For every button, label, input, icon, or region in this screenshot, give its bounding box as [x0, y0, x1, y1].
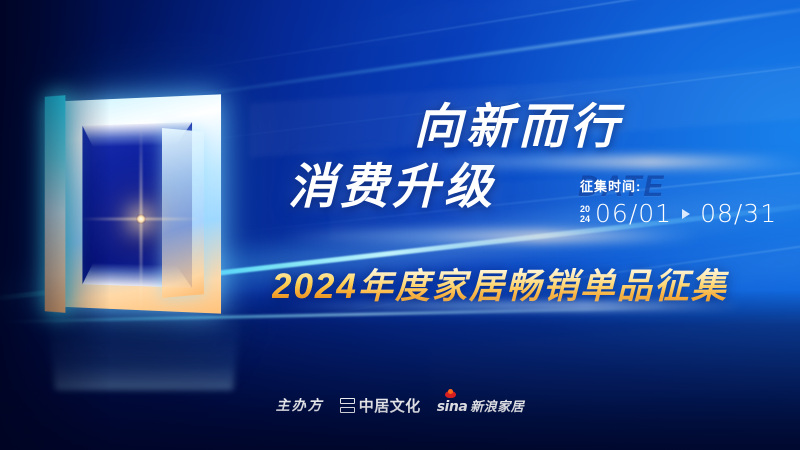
date-label: 征集时间:	[580, 176, 790, 195]
date-range-row: 20 24 06/01 08/31	[580, 199, 790, 228]
footer-sponsors: 主办方 中居文化 sina 新浪家居	[0, 394, 800, 416]
subtitle-underglow	[282, 302, 742, 310]
star-core	[136, 214, 146, 224]
sponsor-zhongju-label: 中居文化	[359, 395, 421, 416]
date-year-bottom: 24	[580, 215, 590, 224]
mark-bottom-bar	[340, 407, 355, 413]
ray-wide-top	[257, 0, 800, 68]
sina-wordmark-text: sina	[437, 399, 468, 415]
door-jamb	[45, 95, 66, 313]
zhongju-square-mark-icon	[340, 398, 355, 413]
promo-banner: 向新而行 消费升级 DATE 征集时间: 20 24 06/01 08/31 2…	[0, 0, 800, 450]
door-leaf	[162, 128, 204, 298]
mark-top-bar	[340, 398, 355, 404]
organizer-label: 主办方	[276, 395, 324, 415]
date-year-stacked: 20 24	[580, 203, 590, 224]
sina-wordmark: sina	[437, 394, 468, 416]
subtitle-block: 2024年度家居畅销单品征集	[272, 258, 772, 309]
glowing-door-portal	[44, 92, 244, 324]
subtitle-text: 年度家居畅销单品征集	[358, 267, 728, 306]
headline-block: 向新而行 消费升级 DATE 征集时间: 20 24 06/01 08/31	[280, 104, 780, 212]
sina-eye-inner	[448, 389, 453, 394]
subtitle-year: 2024	[272, 267, 358, 306]
date-end: 08/31	[700, 199, 777, 228]
headline-line-1: 向新而行	[414, 104, 780, 152]
sponsor-sina-label: 新浪家居	[470, 396, 524, 415]
date-start: 06/01	[595, 199, 672, 228]
sina-eye-icon	[445, 389, 456, 398]
date-arrow-icon	[682, 209, 690, 219]
sponsor-sina-home: sina 新浪家居	[437, 394, 525, 416]
light-burst-star	[136, 214, 146, 224]
sponsor-zhongju-culture: 中居文化	[340, 395, 421, 416]
date-block: DATE 征集时间: 20 24 06/01 08/31	[580, 176, 790, 228]
portal-reflection	[49, 323, 239, 390]
